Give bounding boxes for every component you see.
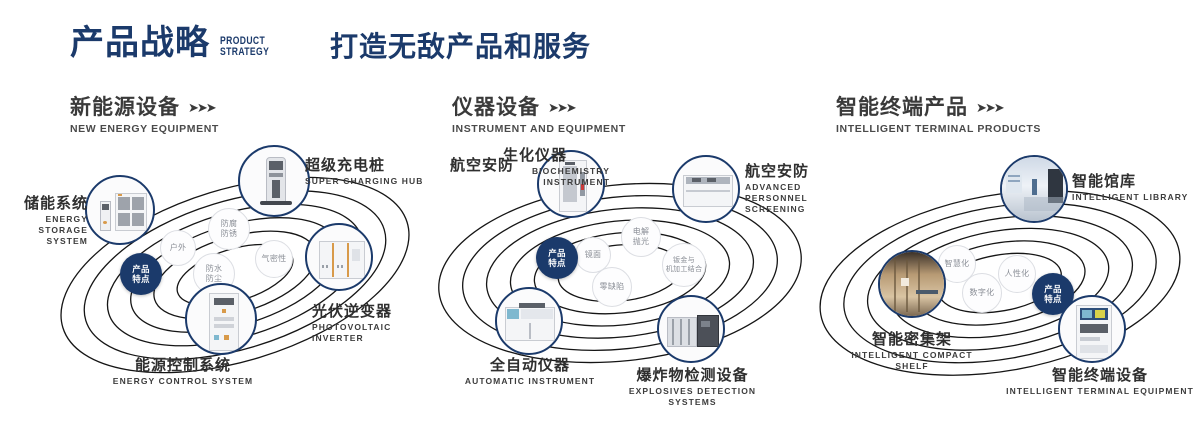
charging-pile-icon [240,147,308,215]
cluster-new-energy: 户外 防腐 防锈 防水 防尘 气密性 产品 特点 储能系统 ENERGY STO… [40,155,430,385]
product-circle-terminal-equipment[interactable] [1058,295,1126,363]
product-circle-automatic-instrument[interactable] [495,287,563,355]
poster-header: 产品战略 PRODUCT STRATEGY [70,26,283,60]
header-title-cn: 产品战略 [70,26,210,60]
product-label-charging-hub: 超级充电桩 SUPER CHARGING HUB [305,157,424,187]
product-circle-pv-inverter[interactable] [305,223,373,291]
feature-bubble: 户外 [160,230,196,266]
feature-bubble: 电解 抛光 [621,217,661,257]
product-circle-screening[interactable] [672,155,740,223]
control-cabinet-icon [187,285,255,353]
product-label-energy-storage: 储能系统 ENERGY STORAGE SYSTEM [8,195,88,246]
self-service-kiosk-icon [1060,297,1124,361]
screening-machine-icon [674,157,738,221]
pv-inverter-cabinet-icon [307,225,371,289]
section-label-cn: 仪器设备 [452,96,540,120]
section-label-en: INTELLIGENT TERMINAL PRODUCTS [836,123,1041,135]
section-label-cn: 新能源设备 [70,96,180,120]
chevron-right-icon: ➤➤➤ [976,101,1003,116]
explosives-detector-icon [659,297,723,361]
section-label-en: NEW ENERGY EQUIPMENT [70,123,219,135]
product-circle-energy-control[interactable] [185,283,257,355]
section-title-instrument: 仪器设备 ➤➤➤ INSTRUMENT AND EQUIPMENT [452,96,626,135]
product-label-screening: 航空安防 ADVANCED PERSONNEL SCREENING [745,163,815,214]
feature-bubble: 气密性 [255,240,293,278]
product-circle-intelligent-library[interactable] [1000,155,1068,223]
cluster-instrument: 镜面 电解 抛光 零缺陷 钣金与 机加工结合 产品 特点 航空安防 生化仪器 B… [425,155,815,385]
product-circle-charging-hub[interactable] [238,145,310,217]
feature-bubble: 钣金与 机加工结合 [662,243,706,287]
library-interior-icon [1002,157,1066,221]
feature-bubble: 数字化 [962,273,1002,313]
feature-bubble: 人性化 [998,255,1036,293]
section-label-cn: 智能终端产品 [836,96,968,120]
product-circle-explosives-detection[interactable] [657,295,725,363]
feature-bubble: 零缺陷 [592,267,632,307]
automatic-analyzer-icon [497,289,561,353]
product-label-biochemistry: 生化仪器 BIOCHEMISTRY INSTRUMENT [460,147,610,188]
product-label-pv-inverter: 光伏逆变器 PHOTOVOLTAIC INVERTER [312,303,430,344]
section-label-en: INSTRUMENT AND EQUIPMENT [452,123,626,135]
product-label-explosives-detection: 爆炸物检测设备 EXPLOSIVES DETECTION SYSTEMS [605,367,780,408]
product-circle-energy-storage[interactable] [85,175,155,245]
chevron-right-icon: ➤➤➤ [188,101,215,116]
core-bubble: 产品 特点 [120,253,162,295]
product-circle-compact-shelf[interactable] [878,250,946,318]
section-title-new-energy: 新能源设备 ➤➤➤ NEW ENERGY EQUIPMENT [70,96,219,135]
header-title-en: PRODUCT STRATEGY [220,36,269,58]
header-subtitle: 打造无敌产品和服务 [330,32,591,63]
section-title-intelligent-terminal: 智能终端产品 ➤➤➤ INTELLIGENT TERMINAL PRODUCTS [836,96,1041,135]
product-label-energy-control: 能源控制系统 ENERGY CONTROL SYSTEM [88,357,278,387]
product-label-automatic-instrument: 全自动仪器 AUTOMATIC INSTRUMENT [445,357,615,387]
chevron-right-icon: ➤➤➤ [548,101,575,116]
product-label-compact-shelf: 智能密集架 INTELLIGENT COMPACT SHELF [832,331,992,372]
core-bubble: 产品 特点 [536,237,578,279]
product-label-terminal-equipment: 智能终端设备 INTELLIGENT TERMINAL EQUIPMENT [1000,367,1200,397]
poster-canvas: 产品战略 PRODUCT STRATEGY 打造无敌产品和服务 新能源设备 ➤➤… [0,0,1200,422]
energy-storage-cabinet-icon [87,177,153,243]
product-label-intelligent-library: 智能馆库 INTELLIGENT LIBRARY [1072,173,1188,203]
cluster-intelligent-terminal: 智慧化 数字化 人性化 产品 特点 智能馆库 INTELLIGENT LIBRA… [810,155,1200,395]
compact-shelf-icon [880,252,944,316]
